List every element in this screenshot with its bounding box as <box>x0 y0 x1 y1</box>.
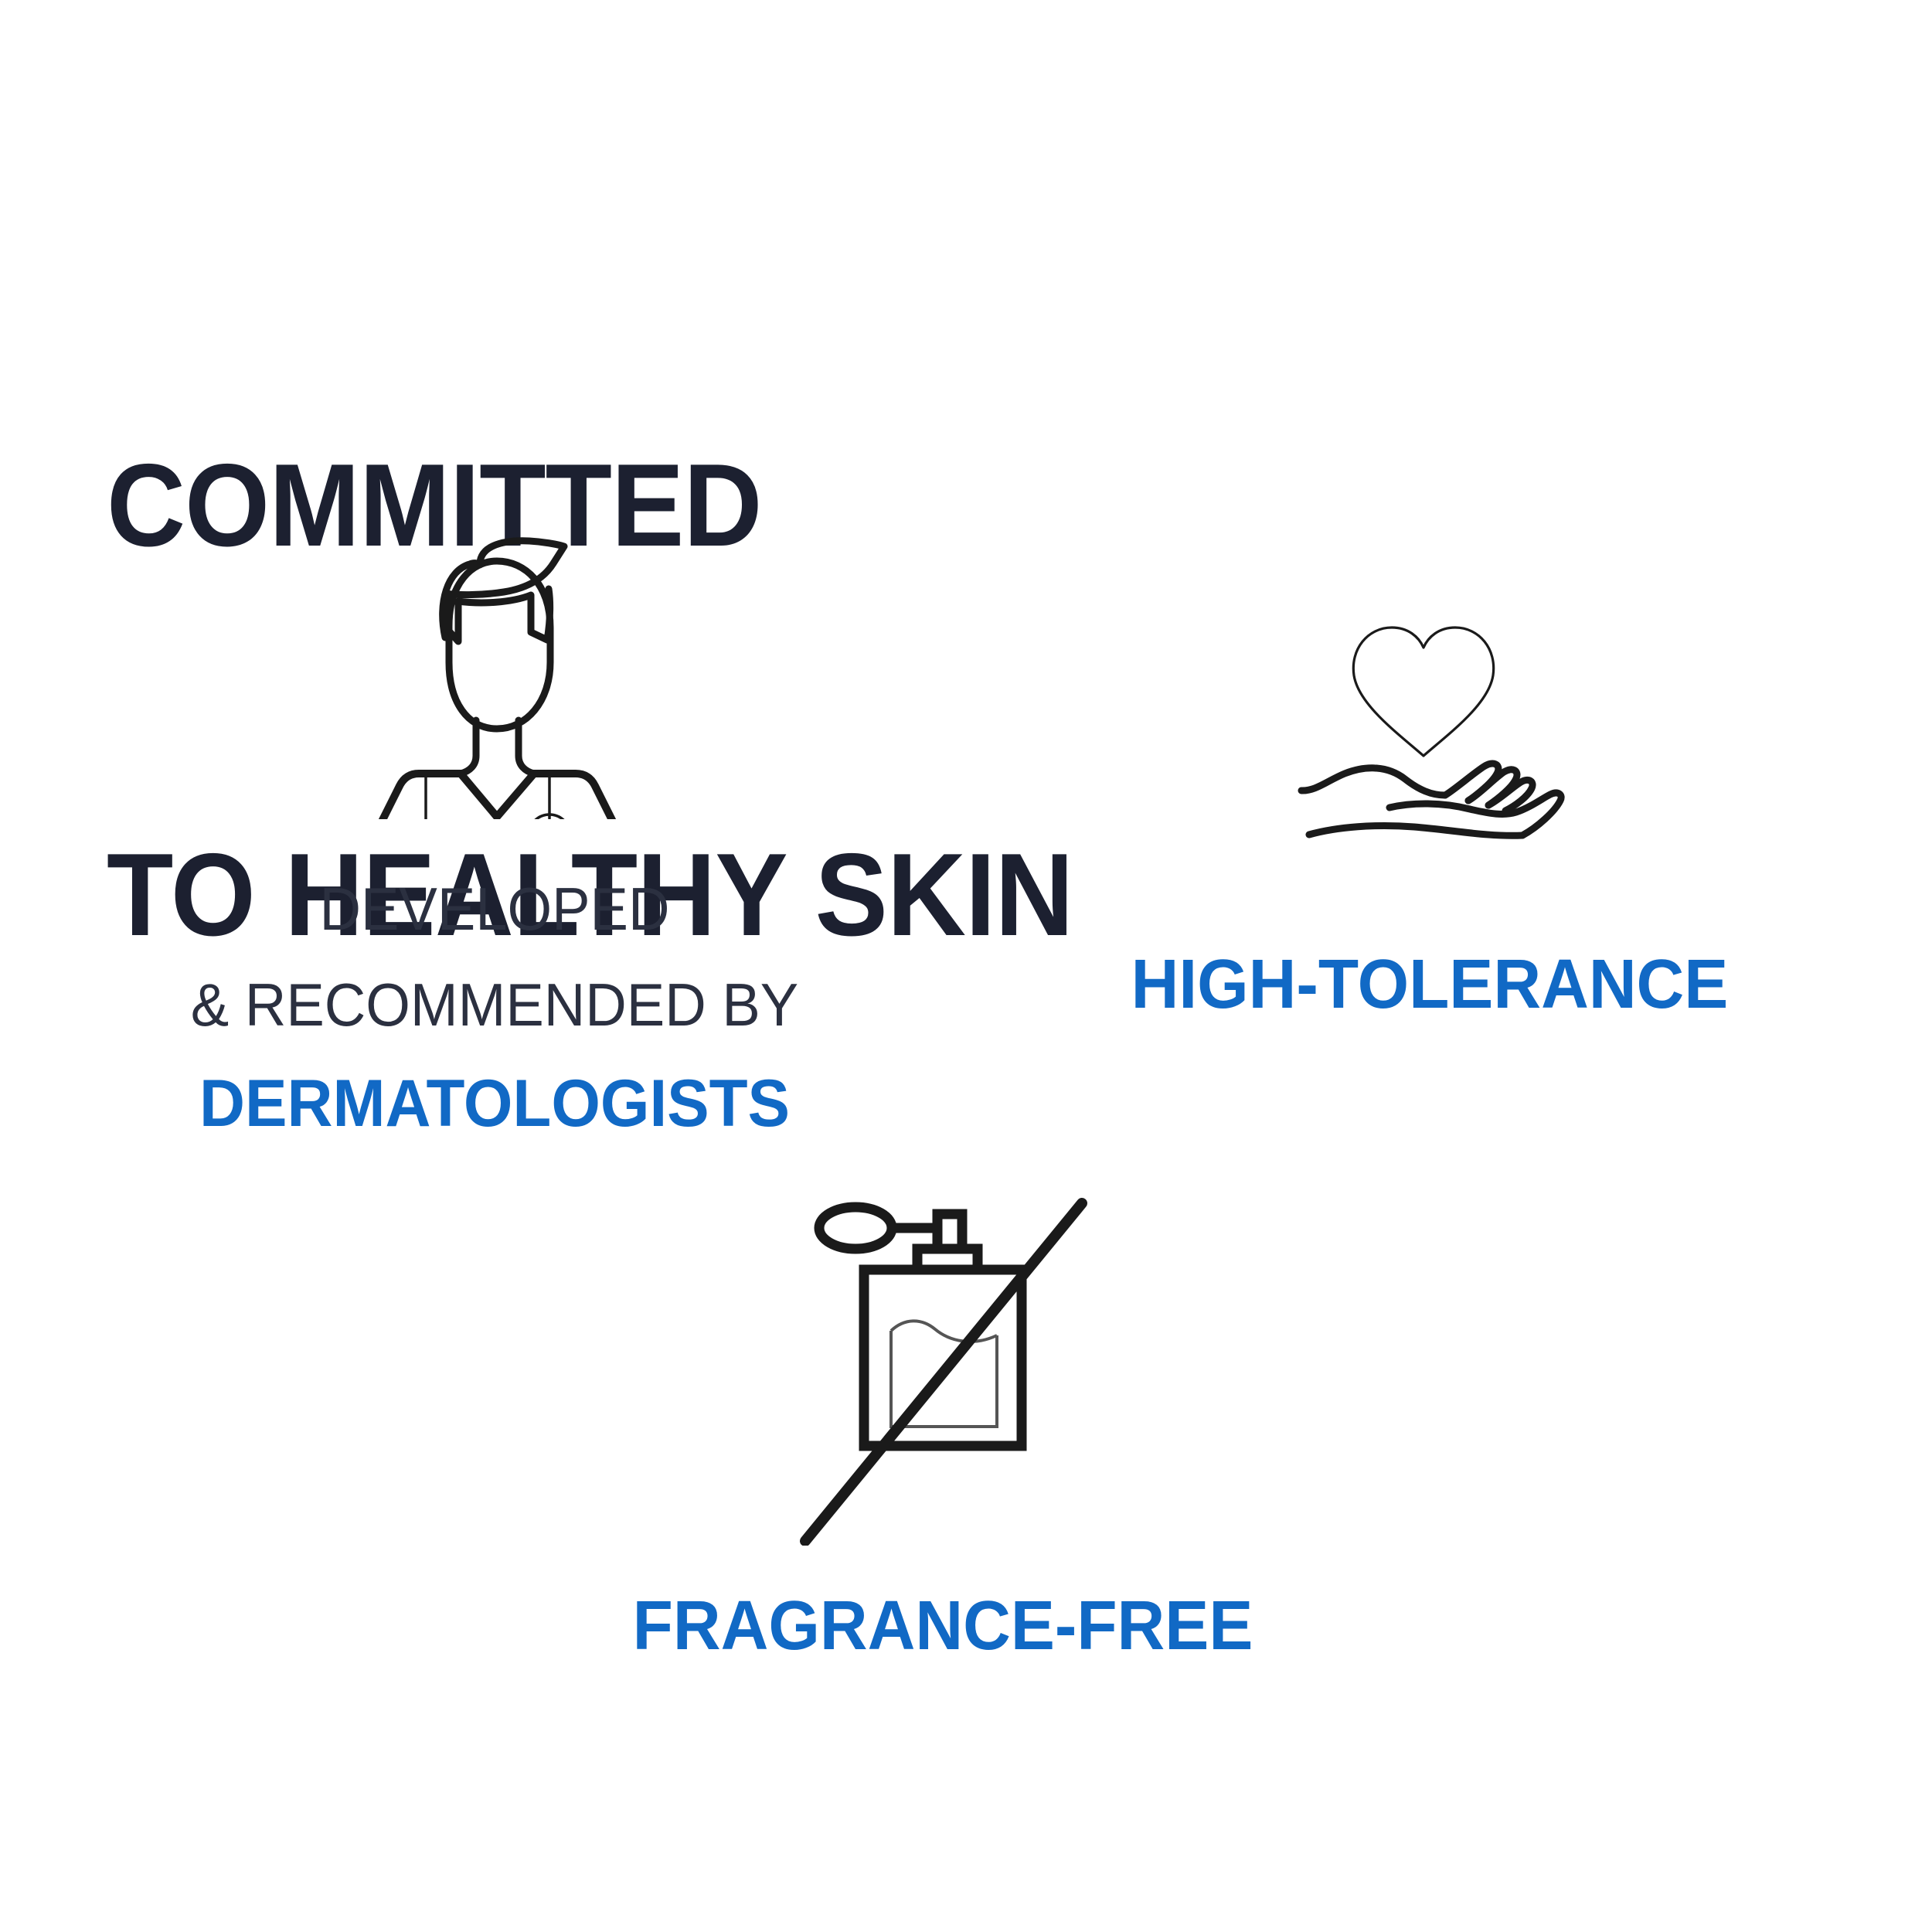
caption-high-tolerance: HIGH-TOLERANCE <box>1105 918 1754 1051</box>
feature-dermatologists: DEVELOPED & RECOMMENDED BY DERMATOLOGIST… <box>58 510 931 1168</box>
marketing-graphic-canvas: COMMITTED TO HEALTHY SKIN DEVE <box>0 0 1932 1932</box>
caption-line-1-accent: FRAGRANCE-FREE <box>605 1587 1281 1665</box>
dermatologist-icon <box>340 510 649 819</box>
caption-line-2: & RECOMMENDED BY <box>80 971 910 1039</box>
caption-line-1-accent: HIGH-TOLERANCE <box>1121 946 1738 1023</box>
feature-high-tolerance: HIGH-TOLERANCE <box>1105 595 1754 1051</box>
no-fragrance-bottle-icon <box>750 1159 1136 1546</box>
feature-fragrance-free: FRAGRANCE-FREE <box>587 1159 1298 1692</box>
caption-fragrance-free: FRAGRANCE-FREE <box>587 1560 1298 1692</box>
caption-line-1: DEVELOPED <box>80 875 910 943</box>
heart-in-hand-icon <box>1291 595 1569 858</box>
caption-dermatologists: DEVELOPED & RECOMMENDED BY DERMATOLOGIST… <box>58 847 931 1168</box>
caption-line-3-accent: DERMATOLOGISTS <box>80 1066 910 1141</box>
